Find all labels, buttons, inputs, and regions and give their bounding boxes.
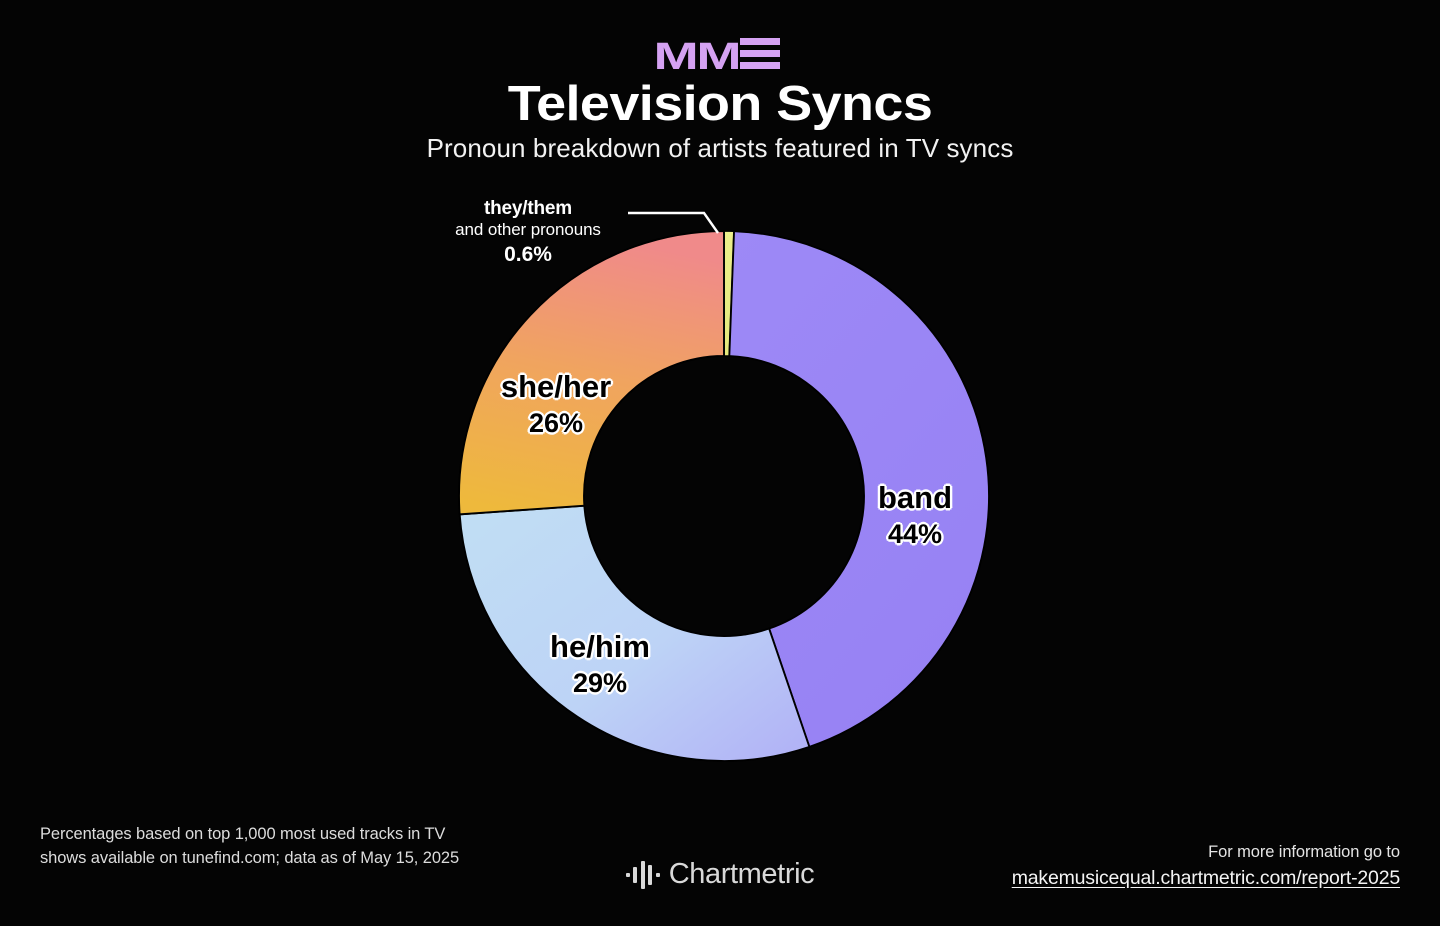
mme-bars-logo-icon — [740, 38, 780, 69]
report-link[interactable]: makemusicequal.chartmetric.com/report-20… — [1012, 867, 1400, 890]
slice-callout-theythem-name: they/them — [430, 198, 626, 220]
waveform-bar — [641, 861, 645, 889]
slice-callout-theythem-subtitle: and other pronouns — [430, 220, 626, 240]
callout-leader-line-icon — [620, 200, 740, 246]
slice-callout-theythem-value: 0.6% — [430, 243, 626, 268]
waveform-bar — [656, 873, 660, 877]
audio-waveform-icon — [626, 860, 660, 890]
logo-bar — [740, 38, 780, 45]
brand-logo-text: MM — [654, 42, 740, 70]
slice-label-hehim: he/him 29% — [520, 631, 680, 697]
logo-bar — [740, 50, 780, 57]
slice-label-sheher: she/her 26% — [470, 371, 642, 437]
waveform-bar — [626, 873, 630, 877]
slice-label-hehim-value: 29% — [520, 670, 680, 697]
waveform-bar — [648, 865, 652, 885]
slice-label-sheher-name: she/her — [470, 371, 642, 402]
page-title: Television Syncs — [0, 78, 1440, 130]
logo-bar — [740, 62, 780, 69]
slice-label-band-name: band — [845, 482, 985, 513]
more-info-block: For more information go to makemusicequa… — [1012, 843, 1400, 890]
chartmetric-logo-label: Chartmetric — [669, 858, 814, 891]
more-info-lead: For more information go to — [1012, 843, 1400, 862]
slice-label-sheher-value: 26% — [470, 410, 642, 437]
slice-label-band: band 44% — [845, 482, 985, 548]
brand-logo: MM — [0, 34, 1440, 70]
slice-callout-theythem: they/them and other pronouns 0.6% — [430, 198, 626, 268]
slice-label-band-value: 44% — [845, 521, 985, 548]
page-subtitle: Pronoun breakdown of artists featured in… — [0, 133, 1440, 164]
waveform-bar — [633, 867, 637, 883]
slice-label-hehim-name: he/him — [520, 631, 680, 662]
